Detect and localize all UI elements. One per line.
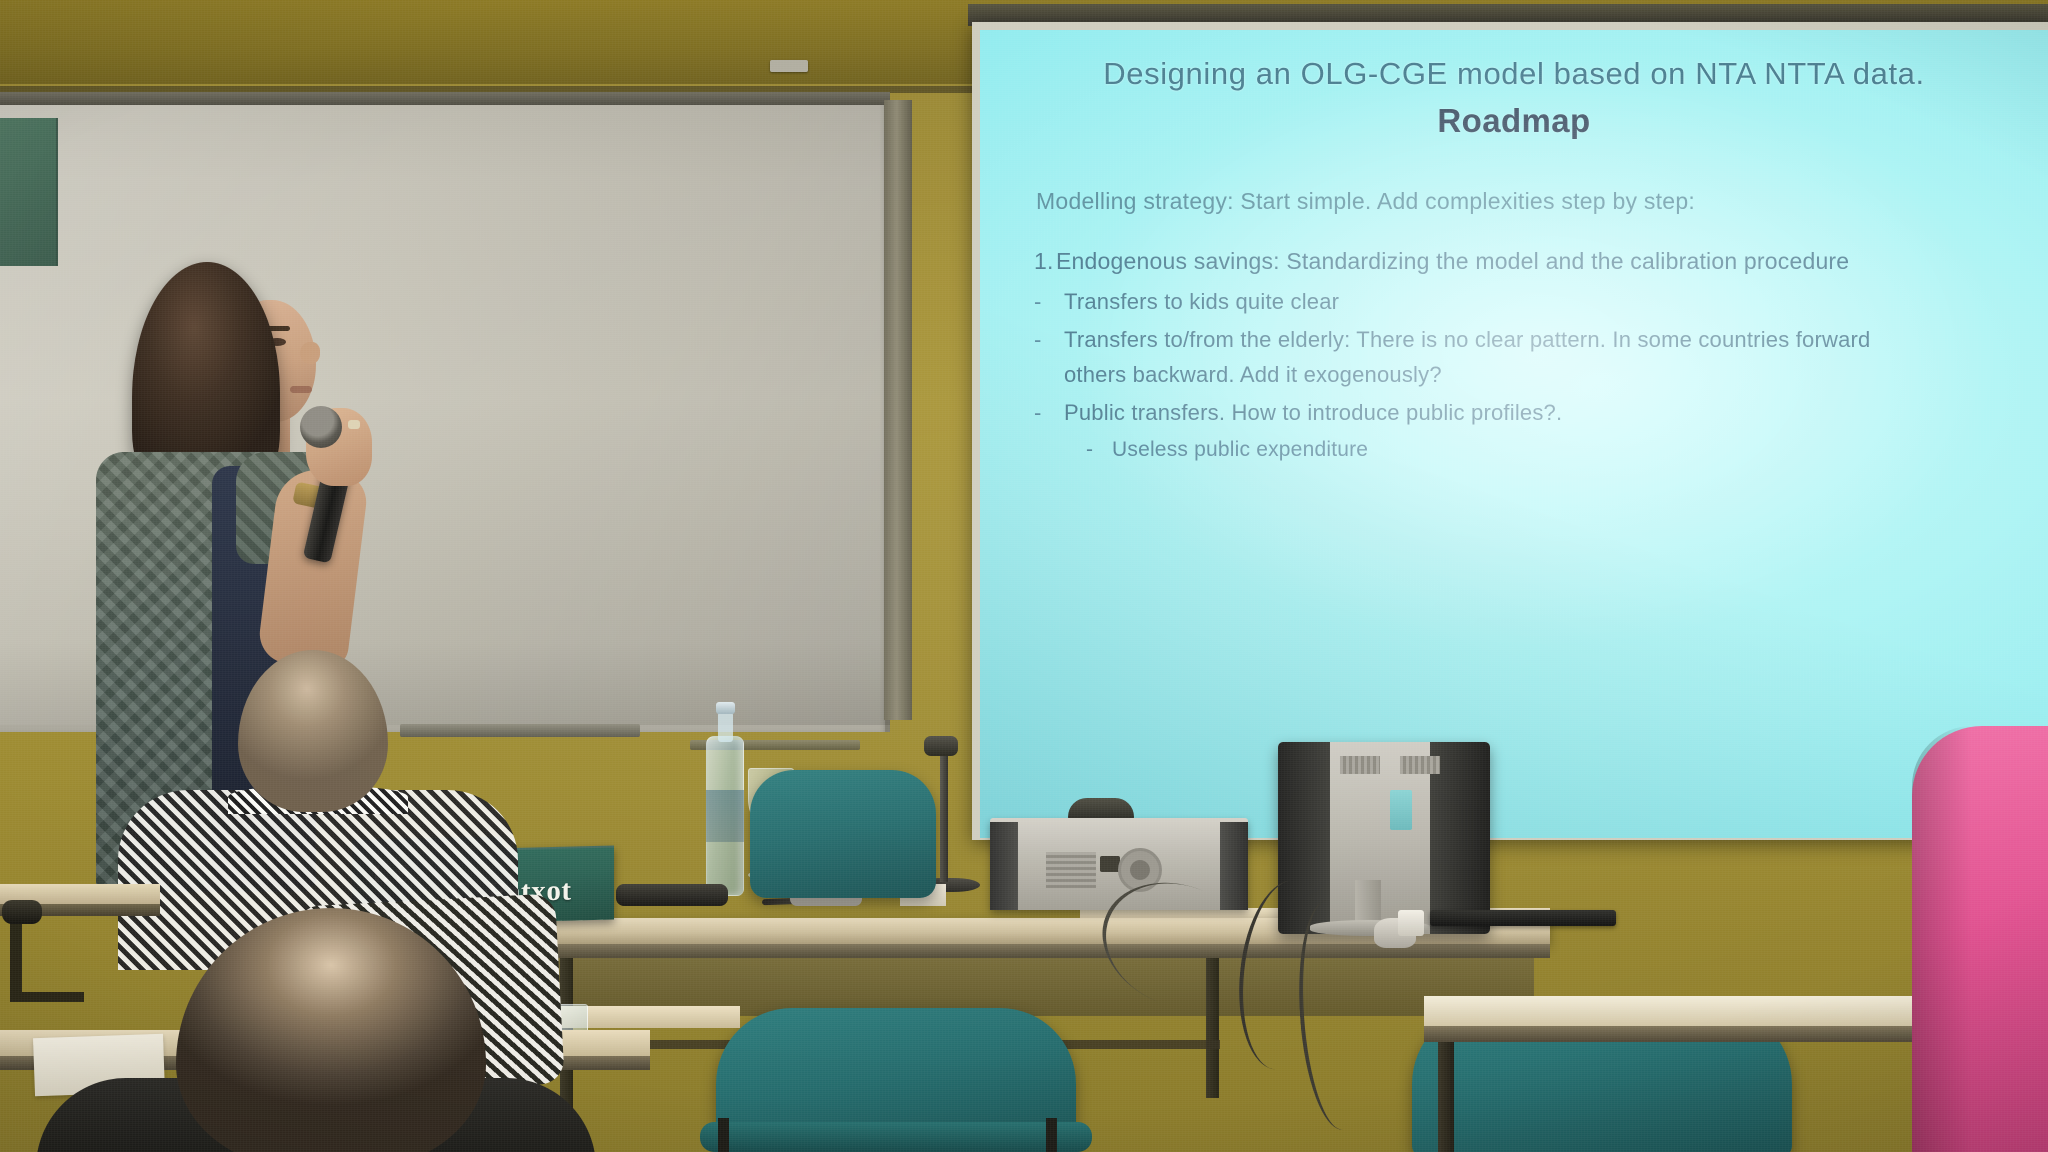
chair-leg bbox=[718, 1118, 729, 1152]
whiteboard-marker-tray bbox=[400, 724, 640, 737]
list-marker: - bbox=[1034, 324, 1064, 355]
projection-screen: Designing an OLG-CGE model based on NTA … bbox=[980, 30, 2048, 838]
foreground-desk-right-leg bbox=[1438, 1042, 1454, 1152]
whiteboard-top-rail bbox=[0, 92, 890, 105]
chalkboard-panel bbox=[0, 118, 58, 266]
list-item-text: Endogenous savings: Standardizing the mo… bbox=[1056, 245, 1849, 278]
monitor-rear-label bbox=[1390, 790, 1412, 830]
list-item-text: Transfers to/from the elderly: There is … bbox=[1064, 327, 1871, 352]
slide-subtitle: Roadmap bbox=[1010, 102, 2018, 140]
slide-list-item: - Public transfers. How to introduce pub… bbox=[1034, 397, 2018, 428]
pc-tower-right-panel bbox=[1220, 822, 1248, 910]
pc-tower-left-panel bbox=[990, 822, 1018, 910]
projected-slide: Designing an OLG-CGE model based on NTA … bbox=[980, 30, 2048, 838]
slide-title: Designing an OLG-CGE model based on NTA … bbox=[1010, 56, 2018, 93]
list-item-text-continuation: others backward. Add it exogenously? bbox=[1064, 359, 1871, 390]
slide-list-item: - Transfers to kids quite clear bbox=[1034, 286, 2018, 317]
water-bottle-label bbox=[706, 790, 744, 842]
slide-list-item: 1. Endogenous savings: Standardizing the… bbox=[1034, 245, 2018, 278]
list-item-text: Useless public expenditure bbox=[1112, 435, 1368, 465]
desk-bracket bbox=[10, 912, 84, 1002]
slide-list-item: - Transfers to/from the elderly: There i… bbox=[1034, 324, 2018, 389]
desk-knob bbox=[2, 900, 42, 924]
monitor-vent-grille bbox=[1400, 756, 1440, 774]
presenter-mouth bbox=[290, 386, 312, 393]
presentation-photo-scene: Designing an OLG-CGE model based on NTA … bbox=[0, 0, 2048, 1152]
presenter-ring bbox=[348, 420, 360, 429]
pc-rear-port bbox=[1100, 856, 1120, 872]
audience-member-right-shading bbox=[1912, 726, 1972, 1152]
list-item-text: Transfers to kids quite clear bbox=[1064, 286, 1339, 317]
slide-bullet-list: 1. Endogenous savings: Standardizing the… bbox=[1034, 245, 2018, 465]
table-microphone-stem bbox=[940, 748, 948, 882]
monitor-vent-grille bbox=[1340, 756, 1380, 774]
slide-sub-list-item: - Useless public expenditure bbox=[1086, 435, 2018, 465]
whiteboard-side-edge bbox=[884, 100, 912, 720]
pc-vent-grille bbox=[1046, 852, 1096, 888]
list-marker: - bbox=[1034, 286, 1064, 317]
chair-backrest bbox=[750, 770, 936, 898]
list-marker: - bbox=[1034, 397, 1064, 428]
chair-seat bbox=[700, 1122, 1092, 1152]
slide-lead-text: Modelling strategy: Start simple. Add co… bbox=[1036, 188, 2018, 215]
list-marker: 1. bbox=[1034, 245, 1056, 278]
water-bottle-neck bbox=[718, 712, 733, 742]
table-microphone-head bbox=[924, 736, 958, 756]
eyeglasses-case bbox=[616, 884, 728, 906]
keyboard bbox=[1430, 910, 1616, 926]
presenter-nose bbox=[300, 342, 320, 364]
list-marker: - bbox=[1086, 435, 1112, 465]
handheld-microphone-head bbox=[300, 406, 342, 448]
chair-leg bbox=[1046, 1118, 1057, 1152]
whiteboard-clip bbox=[770, 60, 808, 72]
mug bbox=[1398, 910, 1424, 936]
water-bottle-cap bbox=[716, 702, 735, 714]
list-item-text: Public transfers. How to introduce publi… bbox=[1064, 397, 1562, 428]
